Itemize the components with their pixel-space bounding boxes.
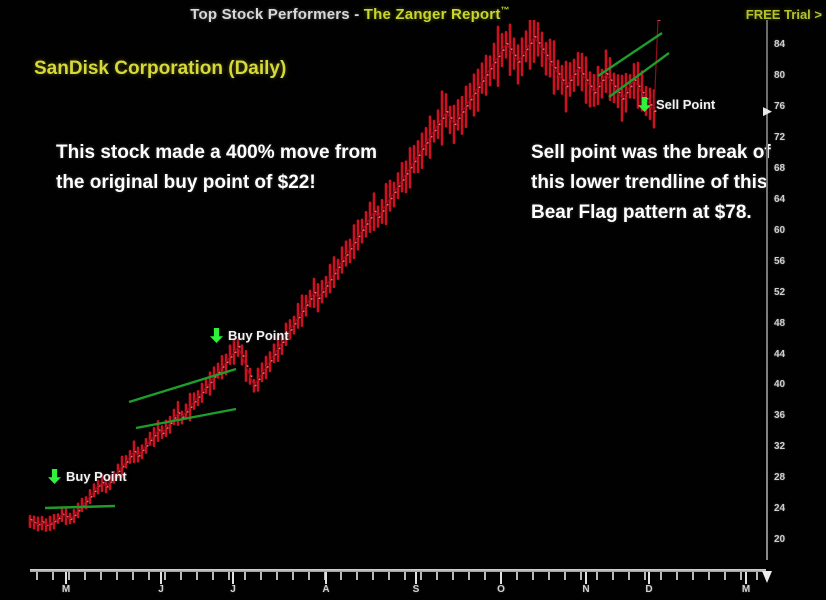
y-axis-line bbox=[766, 20, 768, 560]
x-axis[interactable]: MJJASONDM bbox=[0, 562, 826, 600]
trendlines bbox=[45, 33, 669, 508]
y-tick-label: 40 bbox=[774, 379, 785, 390]
x-tick-mark bbox=[388, 572, 390, 580]
x-tick-mark bbox=[340, 572, 342, 580]
x-tick-mark-major bbox=[585, 572, 587, 584]
x-tick-mark bbox=[548, 572, 550, 580]
y-tick-label: 84 bbox=[774, 39, 785, 50]
up-arrow-icon bbox=[210, 328, 223, 343]
x-tick-mark bbox=[452, 572, 454, 580]
x-tick-mark bbox=[628, 572, 630, 580]
x-tick-mark bbox=[724, 572, 726, 580]
y-tick-label: 48 bbox=[774, 318, 785, 329]
x-tick-label: S bbox=[413, 584, 420, 595]
chart-canvas: Top Stock Performers - The Zanger Report… bbox=[0, 0, 826, 600]
x-tick-mark bbox=[308, 572, 310, 580]
x-tick-mark bbox=[52, 572, 54, 580]
x-tick-mark bbox=[228, 572, 230, 580]
x-tick-mark bbox=[564, 572, 566, 580]
x-tick-mark bbox=[292, 572, 294, 580]
x-axis-cursor-icon bbox=[762, 571, 772, 583]
x-tick-mark bbox=[84, 572, 86, 580]
flag-upper-channel bbox=[129, 369, 236, 402]
x-tick-mark-major bbox=[232, 572, 234, 584]
x-tick-mark bbox=[244, 572, 246, 580]
x-tick-mark bbox=[676, 572, 678, 580]
x-tick-mark bbox=[164, 572, 166, 580]
annotation-left: This stock made a 400% move from the ori… bbox=[56, 138, 396, 198]
price-bars bbox=[30, 20, 660, 531]
x-tick-mark bbox=[132, 572, 134, 580]
x-tick-mark bbox=[596, 572, 598, 580]
y-tick-label: 56 bbox=[774, 256, 785, 267]
up-arrow-icon bbox=[638, 97, 651, 112]
x-tick-label: J bbox=[158, 584, 164, 595]
y-tick-label: 44 bbox=[774, 349, 785, 360]
y-tick-label: 52 bbox=[774, 287, 785, 298]
y-tick-label: 76 bbox=[774, 101, 785, 112]
x-tick-mark bbox=[148, 572, 150, 580]
x-tick-mark bbox=[36, 572, 38, 580]
y-tick-label: 36 bbox=[774, 410, 785, 421]
trademark-symbol: ™ bbox=[501, 5, 510, 15]
x-tick-mark bbox=[260, 572, 262, 580]
x-tick-mark bbox=[644, 572, 646, 580]
sell-point-marker[interactable]: Sell Point bbox=[638, 97, 715, 112]
x-tick-mark-major bbox=[415, 572, 417, 584]
y-tick-label: 80 bbox=[774, 70, 785, 81]
x-tick-mark bbox=[484, 572, 486, 580]
x-tick-label: A bbox=[322, 584, 329, 595]
sell-point-label: Sell Point bbox=[656, 97, 715, 112]
buy-point-2-label: Buy Point bbox=[228, 328, 289, 343]
base-support-1 bbox=[45, 506, 115, 508]
x-tick-mark-major bbox=[325, 572, 327, 584]
x-tick-label: D bbox=[645, 584, 652, 595]
bear-flag-upper bbox=[598, 33, 662, 76]
x-tick-mark bbox=[708, 572, 710, 580]
y-tick-label: 72 bbox=[774, 132, 785, 143]
annotation-right: Sell point was the break of this lower t… bbox=[531, 138, 771, 228]
y-axis[interactable]: 8480767268646056524844403632282420 bbox=[762, 20, 826, 560]
x-tick-label: N bbox=[582, 584, 589, 595]
buy-point-1-label: Buy Point bbox=[66, 469, 127, 484]
up-arrow-icon bbox=[48, 469, 61, 484]
x-tick-mark bbox=[692, 572, 694, 580]
x-tick-mark bbox=[356, 572, 358, 580]
buy-point-2-marker[interactable]: Buy Point bbox=[210, 328, 289, 343]
x-tick-label: M bbox=[742, 584, 750, 595]
x-tick-mark bbox=[68, 572, 70, 580]
x-tick-mark bbox=[116, 572, 118, 580]
y-tick-label: 68 bbox=[774, 163, 785, 174]
x-tick-mark bbox=[180, 572, 182, 580]
y-tick-label: 60 bbox=[774, 225, 785, 236]
y-tick-label: 64 bbox=[774, 194, 785, 205]
x-tick-mark bbox=[436, 572, 438, 580]
x-tick-mark bbox=[532, 572, 534, 580]
x-tick-mark-major bbox=[648, 572, 650, 584]
x-tick-mark bbox=[420, 572, 422, 580]
x-tick-mark bbox=[372, 572, 374, 580]
x-tick-mark bbox=[468, 572, 470, 580]
buy-point-1-marker[interactable]: Buy Point bbox=[48, 469, 127, 484]
x-tick-mark-major bbox=[160, 572, 162, 584]
y-tick-label: 32 bbox=[774, 441, 785, 452]
x-tick-mark bbox=[100, 572, 102, 580]
x-axis-line bbox=[30, 569, 766, 572]
y-tick-label: 20 bbox=[774, 534, 785, 545]
x-tick-label: O bbox=[497, 584, 505, 595]
x-tick-mark bbox=[612, 572, 614, 580]
x-tick-mark bbox=[660, 572, 662, 580]
x-tick-mark bbox=[756, 572, 758, 580]
x-tick-label: J bbox=[230, 584, 236, 595]
x-tick-mark-major bbox=[745, 572, 747, 584]
x-tick-mark-major bbox=[65, 572, 67, 584]
x-tick-mark-major bbox=[500, 572, 502, 584]
x-tick-mark bbox=[276, 572, 278, 580]
x-tick-mark bbox=[740, 572, 742, 580]
y-tick-label: 28 bbox=[774, 472, 785, 483]
x-tick-mark bbox=[516, 572, 518, 580]
x-tick-label: M bbox=[62, 584, 70, 595]
y-tick-label: 24 bbox=[774, 503, 785, 514]
x-tick-mark bbox=[196, 572, 198, 580]
x-tick-mark bbox=[404, 572, 406, 580]
x-tick-mark bbox=[580, 572, 582, 580]
x-tick-mark bbox=[212, 572, 214, 580]
